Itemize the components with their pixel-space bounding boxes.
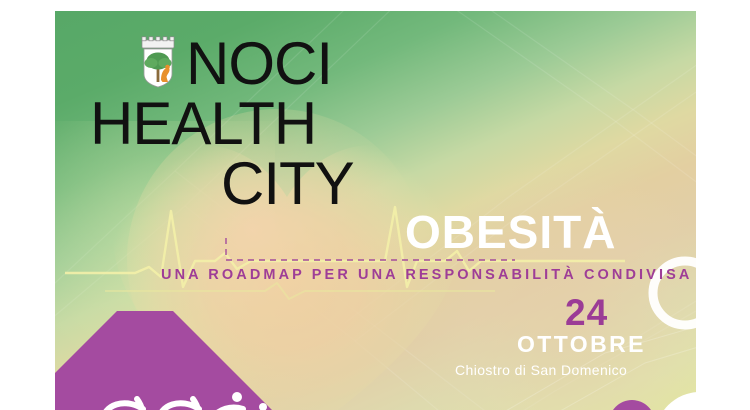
tagline-text: UNA ROADMAP PER UNA RESPONSABILITÀ CONDI… <box>161 267 692 283</box>
left-glow-wash <box>55 121 275 410</box>
brand-line-noci: NOCI <box>186 34 332 94</box>
purple-circle-icon <box>609 400 655 410</box>
event-poster: NOCI HEALTH CITY OBESITÀ UNA ROADMAP PER… <box>55 11 696 410</box>
brand-line-city: CITY <box>221 154 354 214</box>
noci-coat-of-arms-icon <box>137 36 179 88</box>
event-month: OTTOBRE <box>517 333 646 356</box>
script-signature-icon <box>91 383 301 410</box>
white-ring-icon <box>643 251 696 335</box>
event-venue: Chiostro di San Domenico <box>455 363 627 377</box>
screenshot-canvas: NOCI HEALTH CITY OBESITÀ UNA ROADMAP PER… <box>0 0 750 410</box>
purple-diamond-icon <box>55 311 355 410</box>
white-arc-icon <box>655 392 696 410</box>
brand-line-health: HEALTH <box>90 94 316 154</box>
event-day: 24 <box>565 294 608 331</box>
headline-obesita: OBESITÀ <box>405 209 616 255</box>
